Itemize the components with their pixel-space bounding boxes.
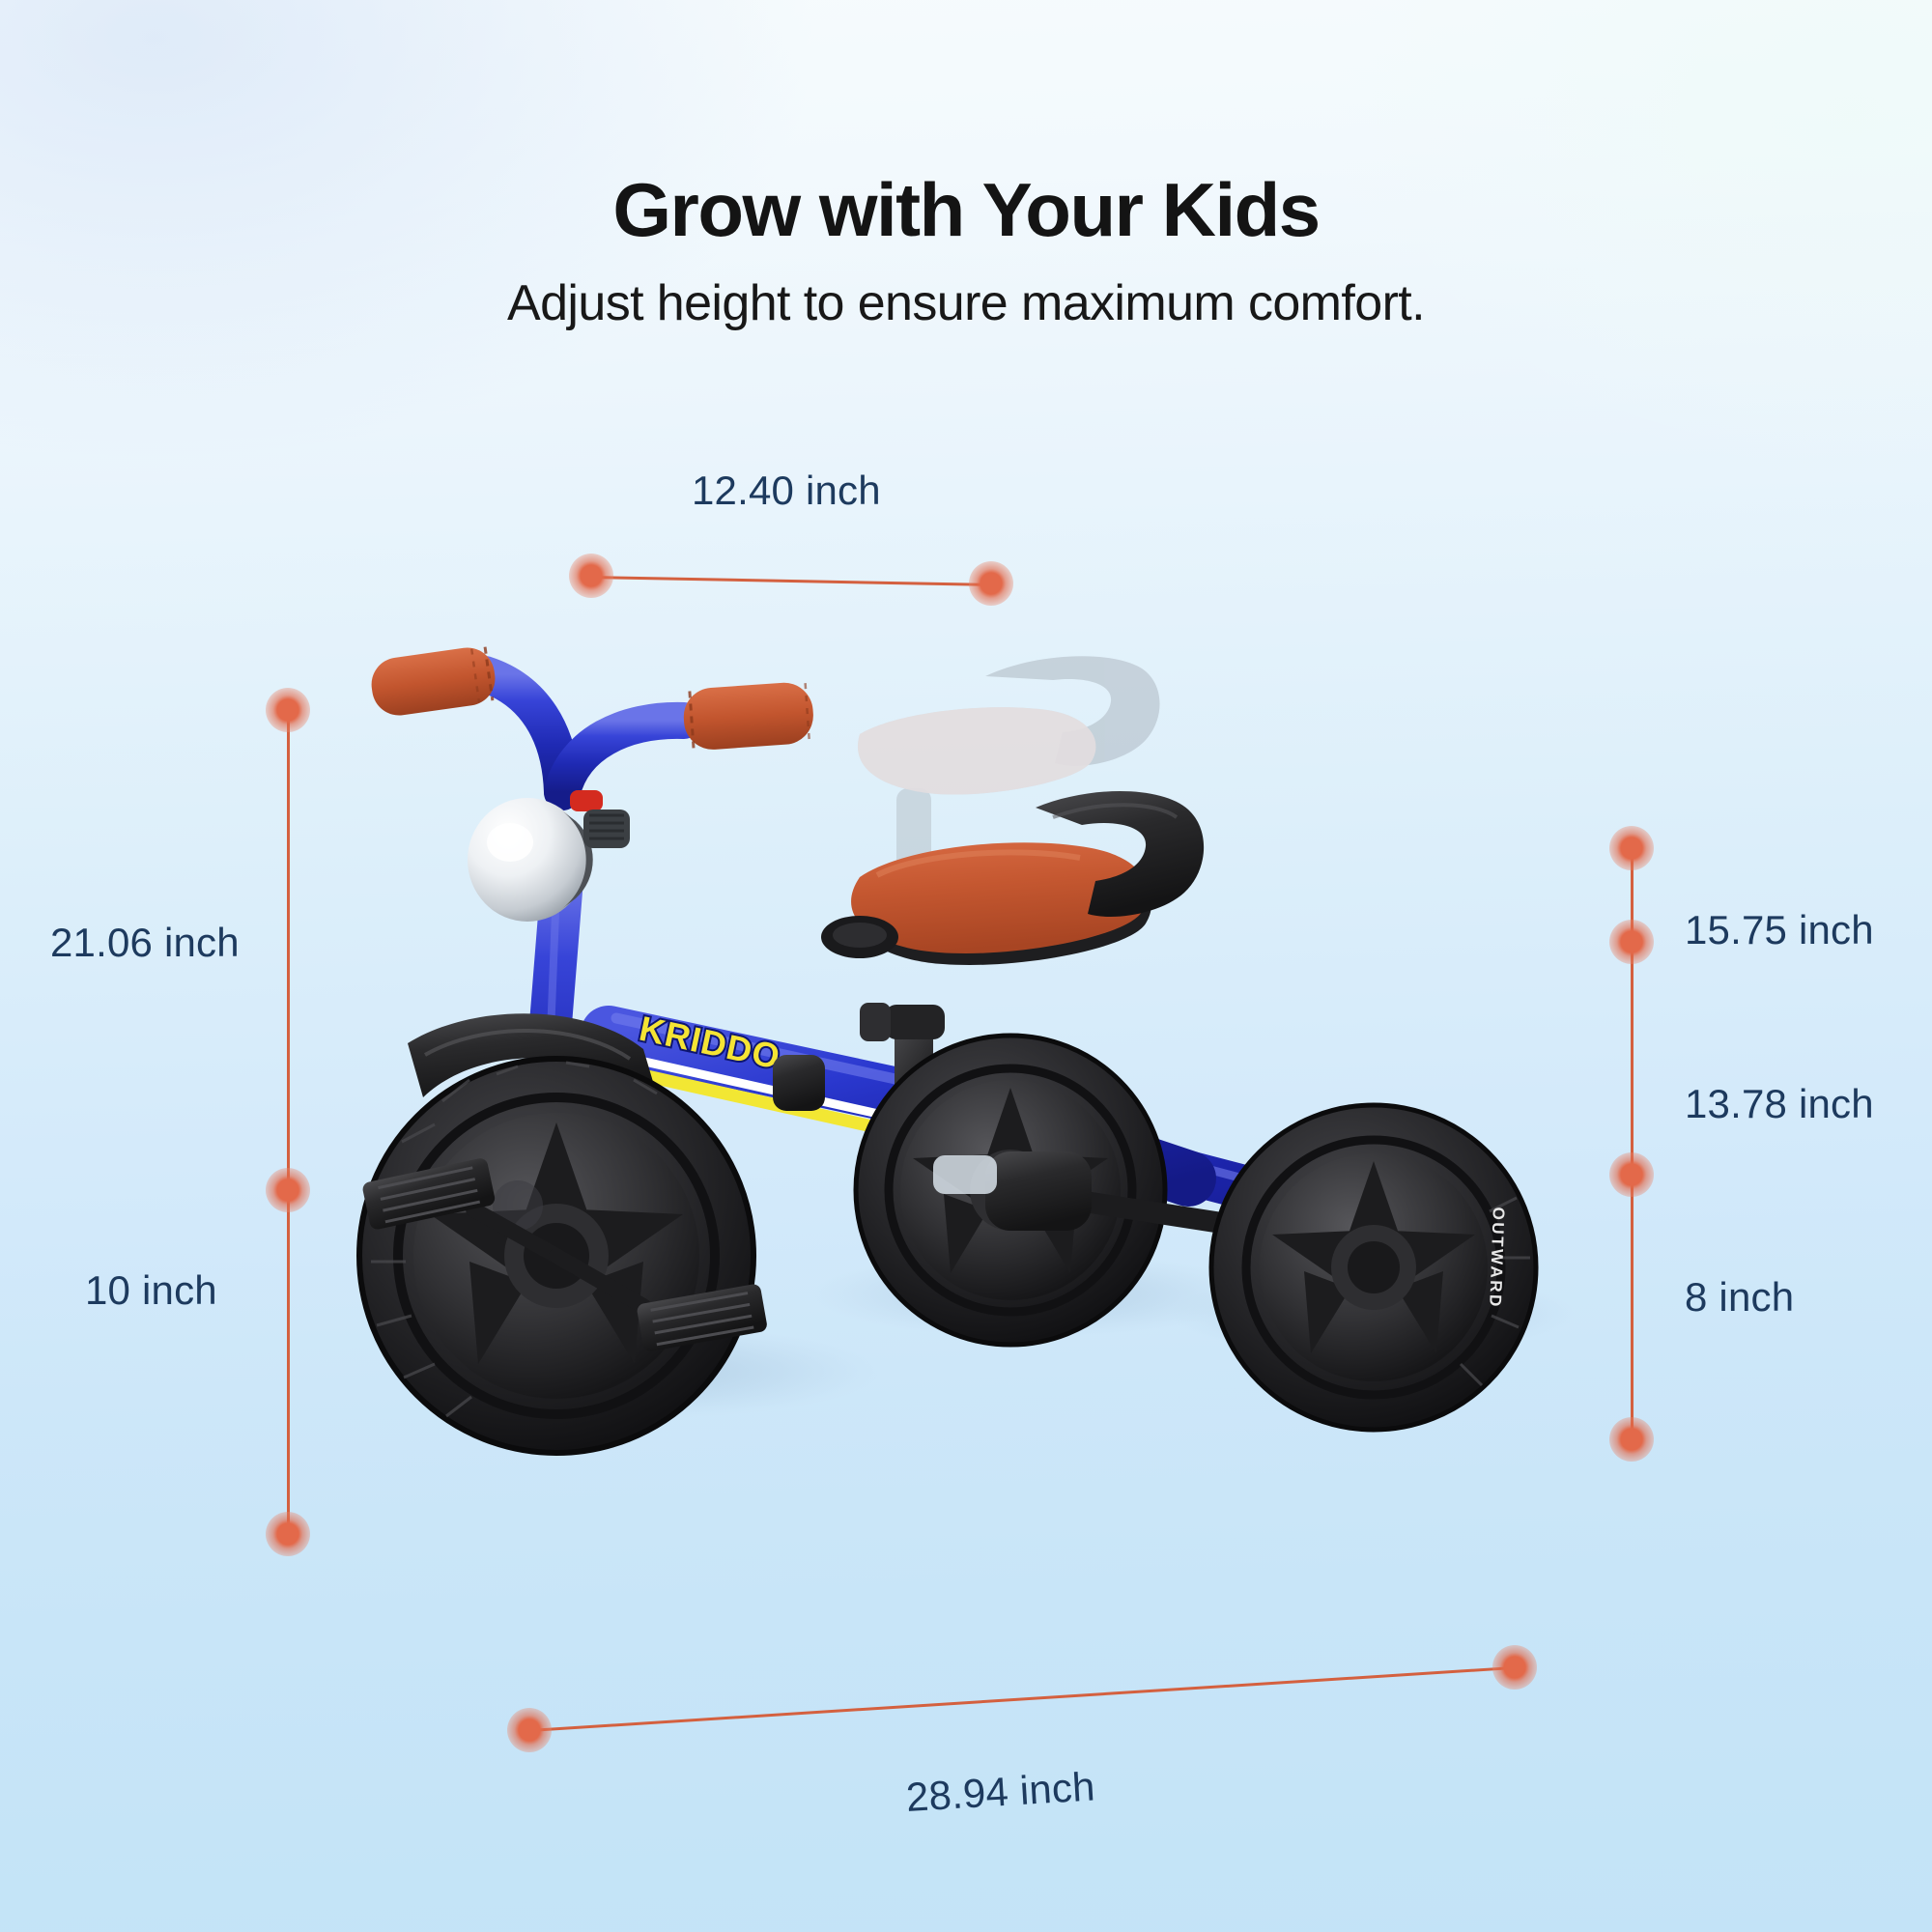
dimension-dot-right-upper-mid [1609,920,1654,964]
dimension-label-rear-wheel-height: 8 inch [1685,1277,1794,1318]
dimension-label-seat-height: 13.78 inch [1685,1084,1874,1124]
dimension-label-total-length: 28.94 inch [905,1766,1096,1818]
dimension-dot-right-bottom [1609,1417,1654,1462]
dimension-dot-left-top [266,688,310,732]
infographic-canvas: Grow with Your Kids Adjust height to ens… [0,0,1932,1932]
dimension-label-seat-back-height: 15.75 inch [1685,910,1874,951]
dimension-dot-handlebar-left [569,554,613,598]
dimension-dot-right-lower-mid [1609,1152,1654,1197]
dimension-dot-right-top [1609,826,1654,870]
page-title: Grow with Your Kids [0,172,1932,247]
dimension-dot-left-bottom [266,1512,310,1556]
dimension-label-total-height: 21.06 inch [50,923,240,963]
svg-text:OUTWARD: OUTWARD [1486,1207,1508,1309]
dimension-label-front-wheel-height: 10 inch [85,1270,217,1311]
dimension-line-total-length [529,1666,1515,1732]
dimension-dot-length-right [1492,1645,1537,1690]
dimension-line-left [287,710,290,1534]
dimension-dot-handlebar-right [969,561,1013,606]
dimension-dot-length-left [507,1708,552,1752]
dimension-line-handlebar-width [591,576,991,586]
dimension-dot-left-middle [266,1168,310,1212]
dimension-label-handlebar-width: 12.40 inch [692,470,881,511]
page-subtitle: Adjust height to ensure maximum comfort. [0,278,1932,328]
tricycle-illustration: KRIDDO [319,618,1613,1642]
